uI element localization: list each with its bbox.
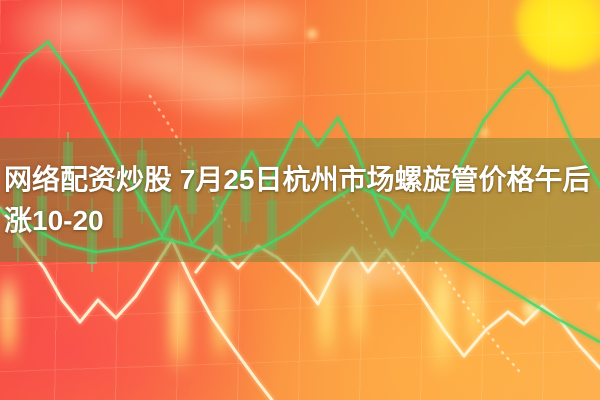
stock-news-banner: 网络配资炒股 7月25日杭州市场螺旋管价格午后涨10-20 — [0, 0, 600, 400]
page-title: 网络配资炒股 7月25日杭州市场螺旋管价格午后涨10-20 — [0, 159, 600, 241]
